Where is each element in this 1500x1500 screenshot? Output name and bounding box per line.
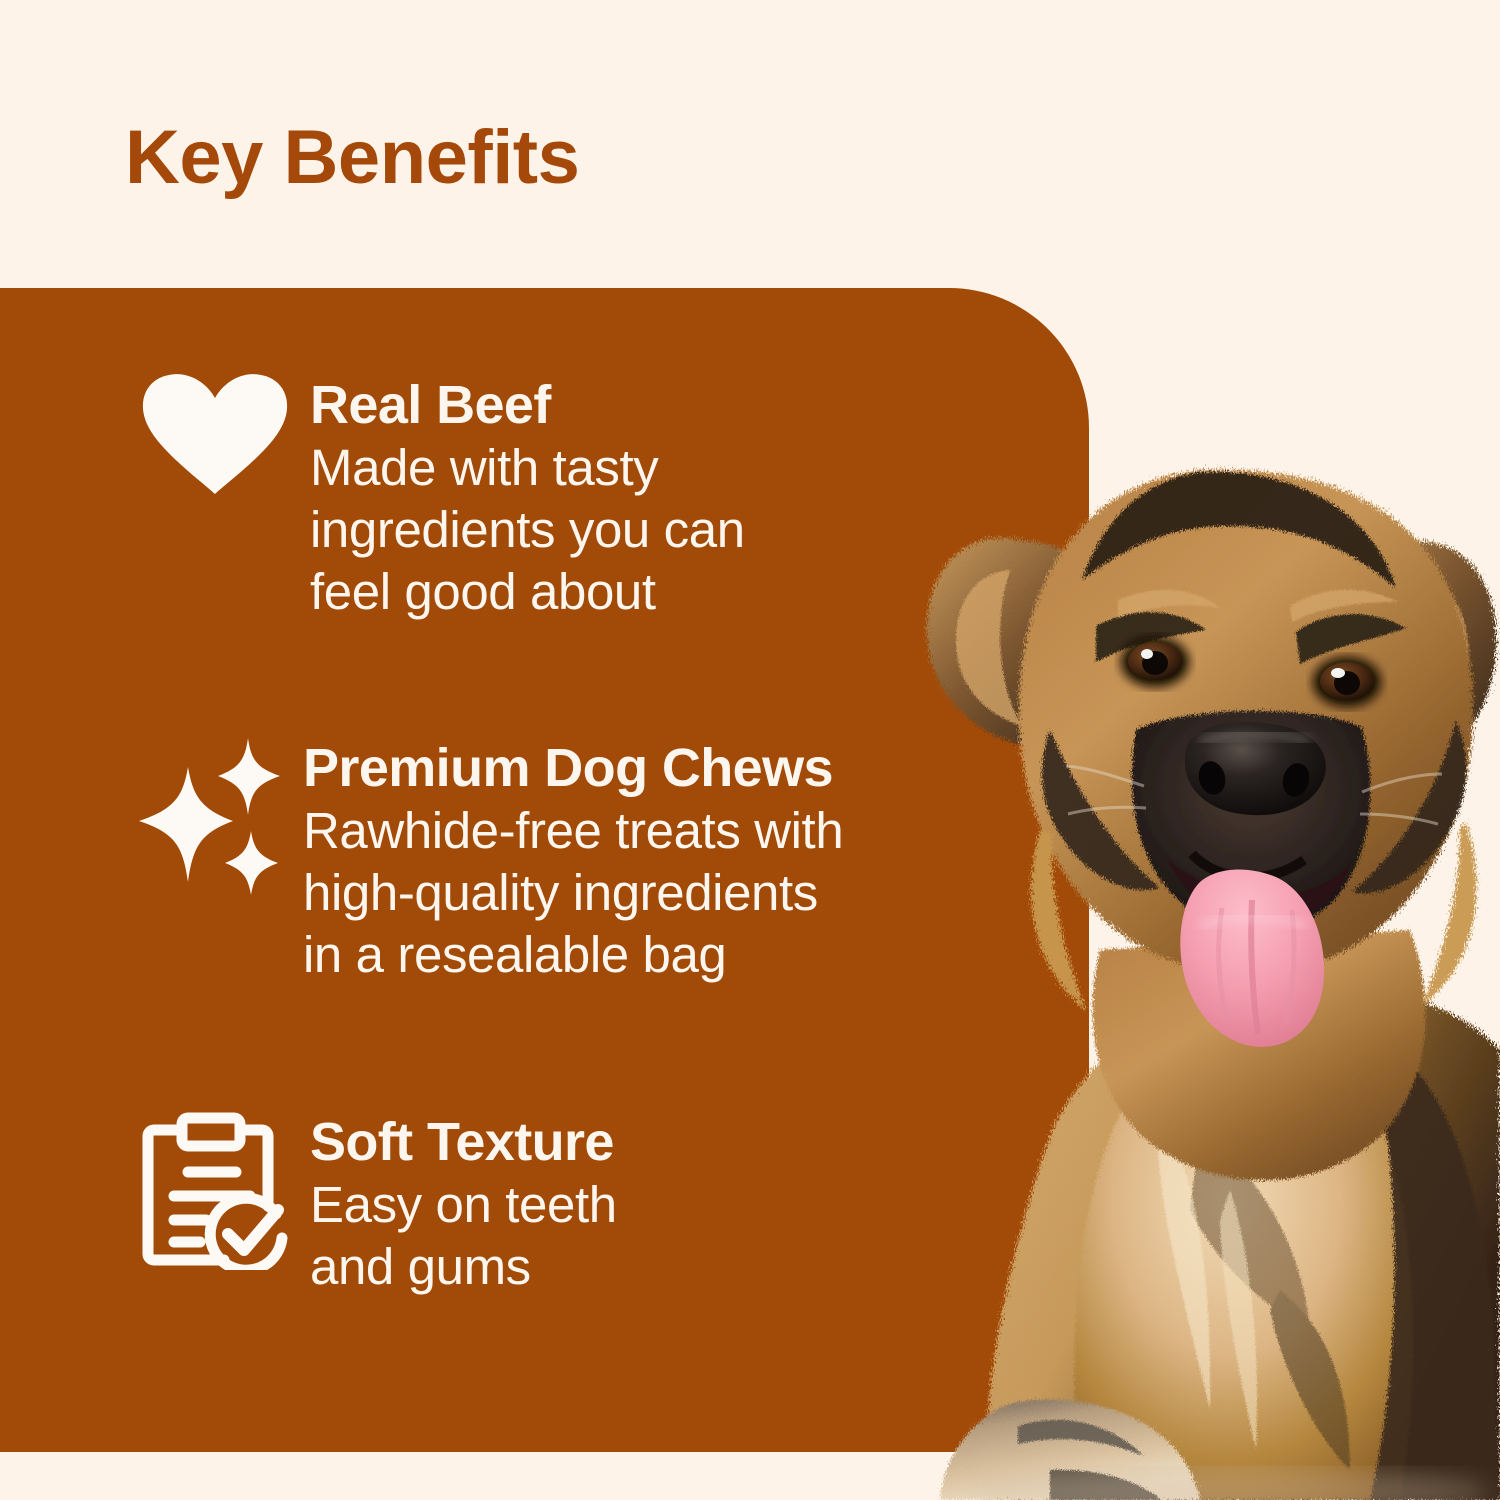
benefit-description-line: in a resealable bag xyxy=(303,924,843,986)
benefit-description-line: feel good about xyxy=(310,561,745,623)
benefit-item-premium-dog-chews: Premium Dog Chews Rawhide-free treats wi… xyxy=(133,736,843,986)
benefit-item-soft-texture: Soft Texture Easy on teeth and gums xyxy=(140,1110,617,1298)
product-infographic: Key Benefits Real Beef Made with tasty i… xyxy=(0,0,1500,1500)
benefit-title: Real Beef xyxy=(310,375,745,437)
clipboard-check-icon xyxy=(140,1110,310,1270)
benefit-description-line: Easy on teeth xyxy=(310,1174,617,1236)
benefit-text: Premium Dog Chews Rawhide-free treats wi… xyxy=(303,736,843,986)
benefit-title: Soft Texture xyxy=(310,1112,617,1174)
benefit-description: Rawhide-free treats with high-quality in… xyxy=(303,800,843,987)
benefit-description: Made with tasty ingredients you can feel… xyxy=(310,437,745,624)
benefit-item-real-beef: Real Beef Made with tasty ingredients yo… xyxy=(140,373,745,623)
german-shepherd-dog-photo xyxy=(900,430,1500,1500)
heart-icon xyxy=(140,373,310,495)
benefit-description-line: and gums xyxy=(310,1236,617,1298)
benefit-description-line: Made with tasty xyxy=(310,437,745,499)
benefit-text: Soft Texture Easy on teeth and gums xyxy=(310,1110,617,1298)
sparkles-icon xyxy=(133,736,303,898)
benefit-text: Real Beef Made with tasty ingredients yo… xyxy=(310,373,745,623)
benefit-description: Easy on teeth and gums xyxy=(310,1174,617,1298)
benefit-description-line: ingredients you can xyxy=(310,499,745,561)
page-title: Key Benefits xyxy=(125,120,579,196)
benefit-description-line: high-quality ingredients xyxy=(303,862,843,924)
benefit-title: Premium Dog Chews xyxy=(303,738,843,800)
benefit-description-line: Rawhide-free treats with xyxy=(303,800,843,862)
